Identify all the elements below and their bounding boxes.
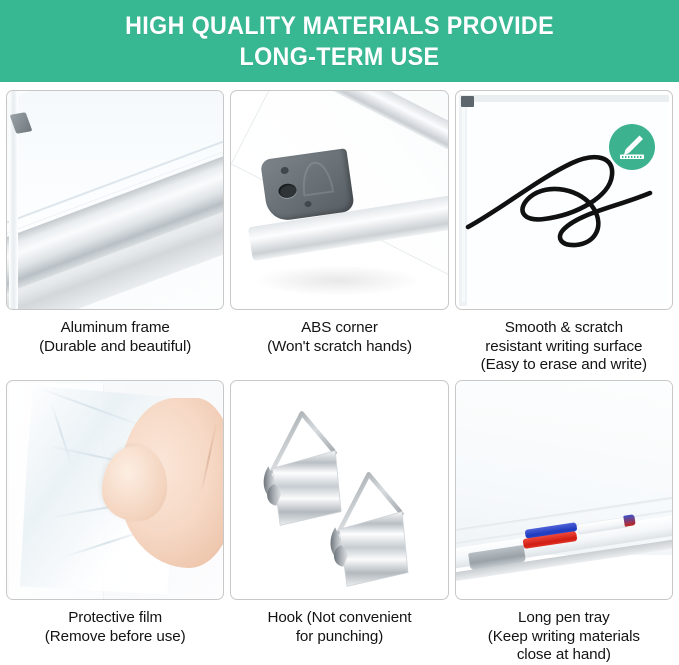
header-banner: HIGH QUALITY MATERIALS PROVIDE LONG-TERM… (0, 0, 679, 82)
feature-cell-pen-tray: Long pen tray (Keep writing materials cl… (455, 380, 673, 665)
feature-cell-hook: Hook (Not convenient for punching) (230, 380, 448, 665)
corner-bracket (461, 96, 474, 107)
caption-protective-film: Protective film (Remove before use) (2, 609, 229, 646)
pen-eraser-icon (616, 131, 648, 163)
image-pen-tray (455, 380, 673, 600)
hook-pair-illustration (231, 381, 447, 599)
corner-arc-detail (299, 160, 334, 197)
feature-cell-writing-surface: Smooth & scratch resistant writing surfa… (455, 90, 673, 380)
corner-screw-hole (304, 201, 312, 208)
banner-title-line-2: LONG-TERM USE (240, 42, 440, 73)
corner-screw-hole (280, 167, 289, 175)
image-writing-surface (455, 90, 673, 310)
caption-aluminum-frame: Aluminum frame (Durable and beautiful) (2, 319, 229, 356)
marker-tip (624, 514, 636, 526)
image-abs-corner (230, 90, 448, 310)
feature-cell-aluminum-frame: Aluminum frame (Durable and beautiful) (6, 90, 224, 380)
image-hook (230, 380, 448, 600)
caption-abs-corner: ABS corner (Won't scratch hands) (226, 319, 453, 356)
image-protective-film (6, 380, 224, 600)
feature-cell-protective-film: Protective film (Remove before use) (6, 380, 224, 665)
feature-cell-abs-corner: ABS corner (Won't scratch hands) (230, 90, 448, 380)
image-aluminum-frame (6, 90, 224, 310)
pen-eraser-badge (609, 124, 655, 170)
hook-item (264, 413, 341, 525)
thumb (102, 446, 167, 520)
feature-grid: Aluminum frame (Durable and beautiful) A… (0, 82, 679, 665)
abs-corner-piece (260, 149, 354, 224)
caption-writing-surface: Smooth & scratch resistant writing surfa… (450, 319, 677, 375)
caption-pen-tray: Long pen tray (Keep writing materials cl… (450, 609, 677, 665)
hook-item (331, 474, 408, 586)
banner-title-line-1: HIGH QUALITY MATERIALS PROVIDE (125, 11, 554, 42)
drop-shadow (253, 265, 422, 296)
caption-hook: Hook (Not convenient for punching) (226, 609, 453, 646)
corner-mount-hole (277, 182, 297, 198)
